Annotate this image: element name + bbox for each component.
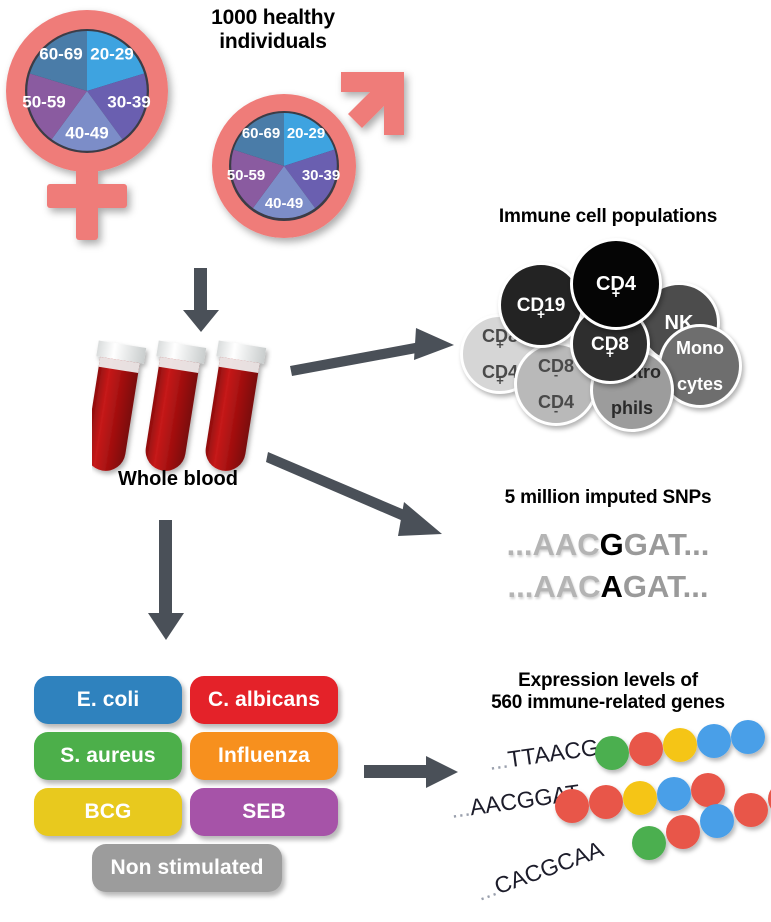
stimulation-s-aureus[interactable]: S. aureus — [34, 732, 182, 780]
snp-sequence-row: ...AACGGAT... — [452, 527, 764, 563]
stimulation-influenza-label: Influenza — [218, 744, 310, 768]
bead-red — [691, 773, 725, 807]
immune-cell-cluster: CD19+ CD4+ NK CD8+ CD8+ CD4+ CD8- CD4- N… — [452, 238, 764, 418]
bead-red — [666, 815, 700, 849]
stimulation-non-stimulated[interactable]: Non stimulated — [92, 844, 282, 892]
stimulation-c-albicans[interactable]: C. albicans — [190, 676, 338, 724]
pie-label-60-69: 60-69 — [39, 44, 82, 63]
whole-blood-label: Whole blood — [78, 468, 278, 491]
pie-label-20-29: 20-29 — [90, 44, 133, 63]
snp-row-0-suffix: GAT... — [624, 527, 710, 562]
pie-label-50-59: 50-59 — [22, 92, 65, 111]
cell-monocytes-line1: Mono — [676, 339, 724, 357]
snp-row-0-prefix: ...AAC — [507, 527, 600, 562]
stimulation-e-coli[interactable]: E. coli — [34, 676, 182, 724]
stimulation-e-coli-label: E. coli — [77, 688, 140, 712]
pie-label-20-29: 20-29 — [287, 125, 325, 142]
bead-red — [555, 789, 589, 823]
snp-row-1-suffix: GAT... — [623, 569, 709, 604]
bead-blue — [700, 804, 734, 838]
expression-strand-1: ...TTAACGG — [487, 720, 765, 775]
snp-sequence-row: ...AACAGAT... — [452, 569, 764, 605]
bead-green — [632, 826, 666, 860]
blood-tube — [139, 340, 206, 474]
snps-section-title: 5 million imputed SNPs — [452, 487, 764, 509]
stimulation-non-stimulated-label: Non stimulated — [110, 856, 263, 880]
pie-label-40-49: 40-49 — [265, 195, 303, 212]
snp-row-1-prefix: ...AAC — [508, 569, 601, 604]
pie-label-40-49: 40-49 — [65, 123, 108, 142]
snp-row-0-variant: G — [600, 527, 624, 562]
stimulation-bcg-label: BCG — [85, 800, 132, 824]
stimulation-c-albicans-label: C. albicans — [208, 688, 320, 712]
stimulation-seb-label: SEB — [242, 800, 285, 824]
arrow-cohort-to-blood — [178, 268, 224, 334]
stimulation-seb[interactable]: SEB — [190, 788, 338, 836]
pie-label-30-39: 30-39 — [302, 167, 340, 184]
snp-sequence-block: ...AACGGAT... ...AACAGAT... — [452, 527, 764, 617]
stimulation-influenza[interactable]: Influenza — [190, 732, 338, 780]
bead-yellow — [663, 728, 697, 762]
bead-blue — [731, 720, 765, 754]
stimulation-bcg[interactable]: BCG — [34, 788, 182, 836]
bead-blue — [657, 777, 691, 811]
bead-red — [589, 785, 623, 819]
arrow-stimulations-to-expression — [364, 752, 460, 792]
pie-label-30-39: 30-39 — [107, 92, 150, 111]
expression-section-title: Expression levels of 560 immune-related … — [452, 670, 764, 714]
stimulation-s-aureus-label: S. aureus — [60, 744, 155, 768]
cell-monocytes-line2: cytes — [676, 375, 724, 393]
bead-red — [629, 732, 663, 766]
pie-label-60-69: 60-69 — [242, 125, 280, 142]
arrow-blood-to-immune-cells — [288, 322, 458, 378]
blood-tube — [199, 340, 266, 474]
bead-yellow — [623, 781, 657, 815]
male-symbol-age-pie: 20-29 30-39 40-49 50-59 60-69 — [208, 70, 418, 250]
bead-red — [734, 793, 768, 827]
immune-section-title: Immune cell populations — [452, 206, 764, 228]
cell-neutrophils-line2: phils — [603, 399, 661, 417]
expression-strand-3-seq: ...CACGCAA — [473, 836, 607, 906]
stimulation-conditions: E. coli C. albicans S. aureus Influenza … — [34, 676, 344, 896]
snp-row-1-variant: A — [601, 569, 623, 604]
bead-green — [595, 736, 629, 770]
female-symbol-age-pie: 20-29 30-39 40-49 50-59 60-69 — [2, 6, 202, 246]
expression-title-line2: 560 immune-related genes — [452, 692, 764, 714]
expression-title-line1: Expression levels of — [452, 670, 764, 692]
arrow-blood-to-stimulations — [142, 520, 190, 642]
expression-strands: ...TTAACGG ...AACGGAT — [452, 726, 771, 916]
arrow-blood-to-snps — [266, 450, 446, 544]
pie-label-50-59: 50-59 — [227, 167, 265, 184]
bead-blue — [697, 724, 731, 758]
figure-canvas: 1000 healthy individuals — [0, 0, 771, 922]
cell-cd4-positive: CD4+ — [570, 238, 662, 330]
blood-tube — [92, 340, 146, 474]
